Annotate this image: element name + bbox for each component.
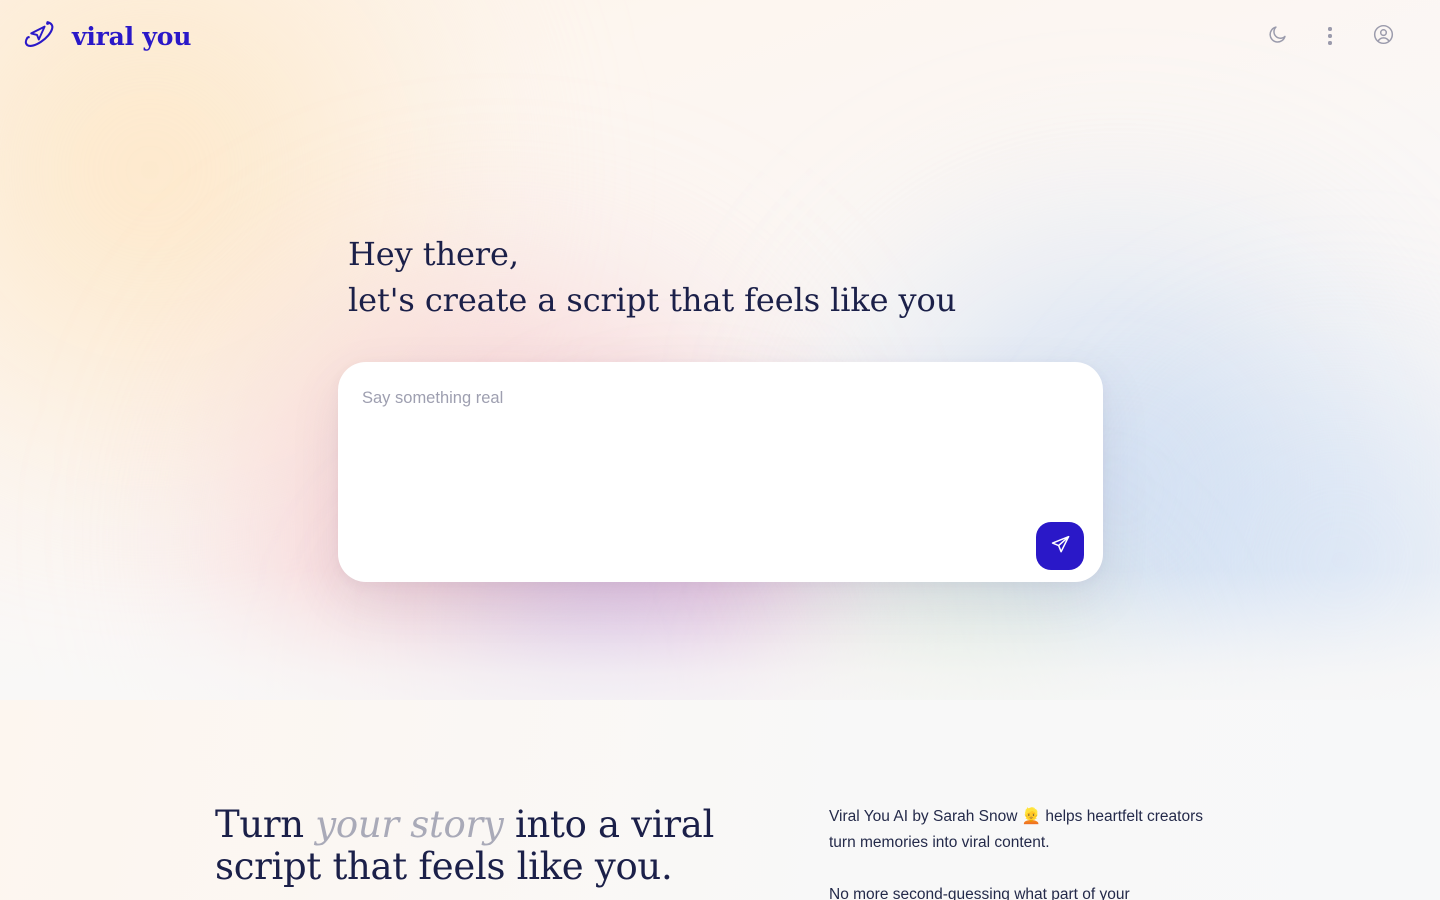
body-paragraph-2: No more second-guessing what part of you… [829,882,1209,900]
send-paper-plane-icon [1050,534,1071,558]
body-paragraph-1: Viral You AI by Sarah Snow 👱 helps heart… [829,804,1209,856]
composer-card [338,362,1103,582]
value-prop-headline: Turn your story into a viral script that… [215,804,795,888]
app-root: viral you [0,0,1440,900]
moon-icon [1267,24,1288,48]
moon-icon-button[interactable] [1262,21,1292,51]
script-prompt-input[interactable] [362,386,1062,516]
brand-name: viral you [72,22,191,51]
navbar-actions [1262,21,1416,51]
brand-logo[interactable]: viral you [20,17,191,55]
hero-greeting: Hey there, let's create a script that fe… [348,231,956,323]
account-button[interactable] [1368,21,1398,51]
value-prop-section: Turn your story into a viral script that… [0,760,1440,900]
value-prop-body: Viral You AI by Sarah Snow 👱 helps heart… [829,804,1209,900]
headline-emphasis: your story [315,803,503,846]
hero-section: Hey there, let's create a script that fe… [0,0,1440,760]
paper-plane-orbit-icon [20,17,62,55]
more-options-button[interactable] [1315,21,1345,51]
vertical-dots-icon [1328,27,1331,44]
headline-part-1: Turn [215,803,315,846]
top-navbar: viral you [0,0,1440,72]
user-circle-icon [1372,23,1395,49]
send-button[interactable] [1036,522,1084,570]
